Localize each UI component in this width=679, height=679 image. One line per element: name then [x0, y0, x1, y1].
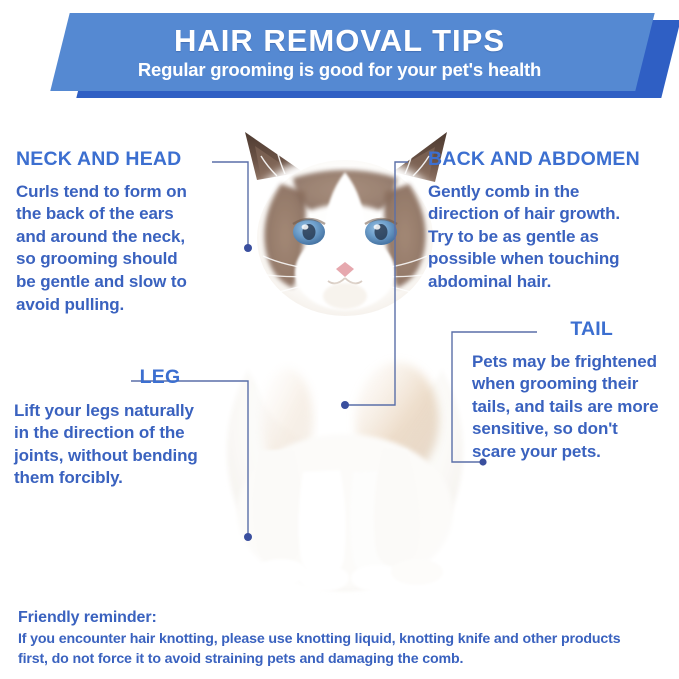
friendly-reminder-title: Friendly reminder: [18, 608, 668, 628]
callout-heading-back-and-abdomen: BACK AND ABDOMEN [428, 150, 673, 170]
callout-leg: LEG Lift your legs naturally in the dire… [14, 368, 246, 490]
page-subtitle: Regular grooming is good for your pet's … [138, 61, 541, 80]
callout-heading-neck-and-head: NECK AND HEAD [16, 150, 231, 170]
callout-heading-leg: LEG [14, 368, 246, 388]
callout-body-tail: Pets may be frightened when grooming the… [472, 351, 677, 464]
friendly-reminder: Friendly reminder: If you encounter hair… [18, 608, 668, 670]
friendly-reminder-body: If you encounter hair knotting, please u… [18, 630, 668, 670]
callout-heading-tail: TAIL [472, 320, 677, 340]
callout-body-back-and-abdomen: Gently comb in the direction of hair gro… [428, 181, 673, 294]
header-banner: HAIR REMOVAL TIPS Regular grooming is go… [0, 0, 679, 104]
callout-body-neck-and-head: Curls tend to form on the back of the ea… [16, 181, 231, 317]
callout-body-leg: Lift your legs naturally in the directio… [14, 400, 246, 490]
callout-tail: TAIL Pets may be frightened when groomin… [472, 320, 677, 464]
banner-text-group: HAIR REMOVAL TIPS Regular grooming is go… [0, 13, 679, 91]
callout-back-and-abdomen: BACK AND ABDOMEN Gently comb in the dire… [428, 150, 673, 294]
page-title: HAIR REMOVAL TIPS [174, 25, 505, 56]
cat-head [233, 132, 457, 338]
callout-neck-and-head: NECK AND HEAD Curls tend to form on the … [16, 150, 231, 316]
